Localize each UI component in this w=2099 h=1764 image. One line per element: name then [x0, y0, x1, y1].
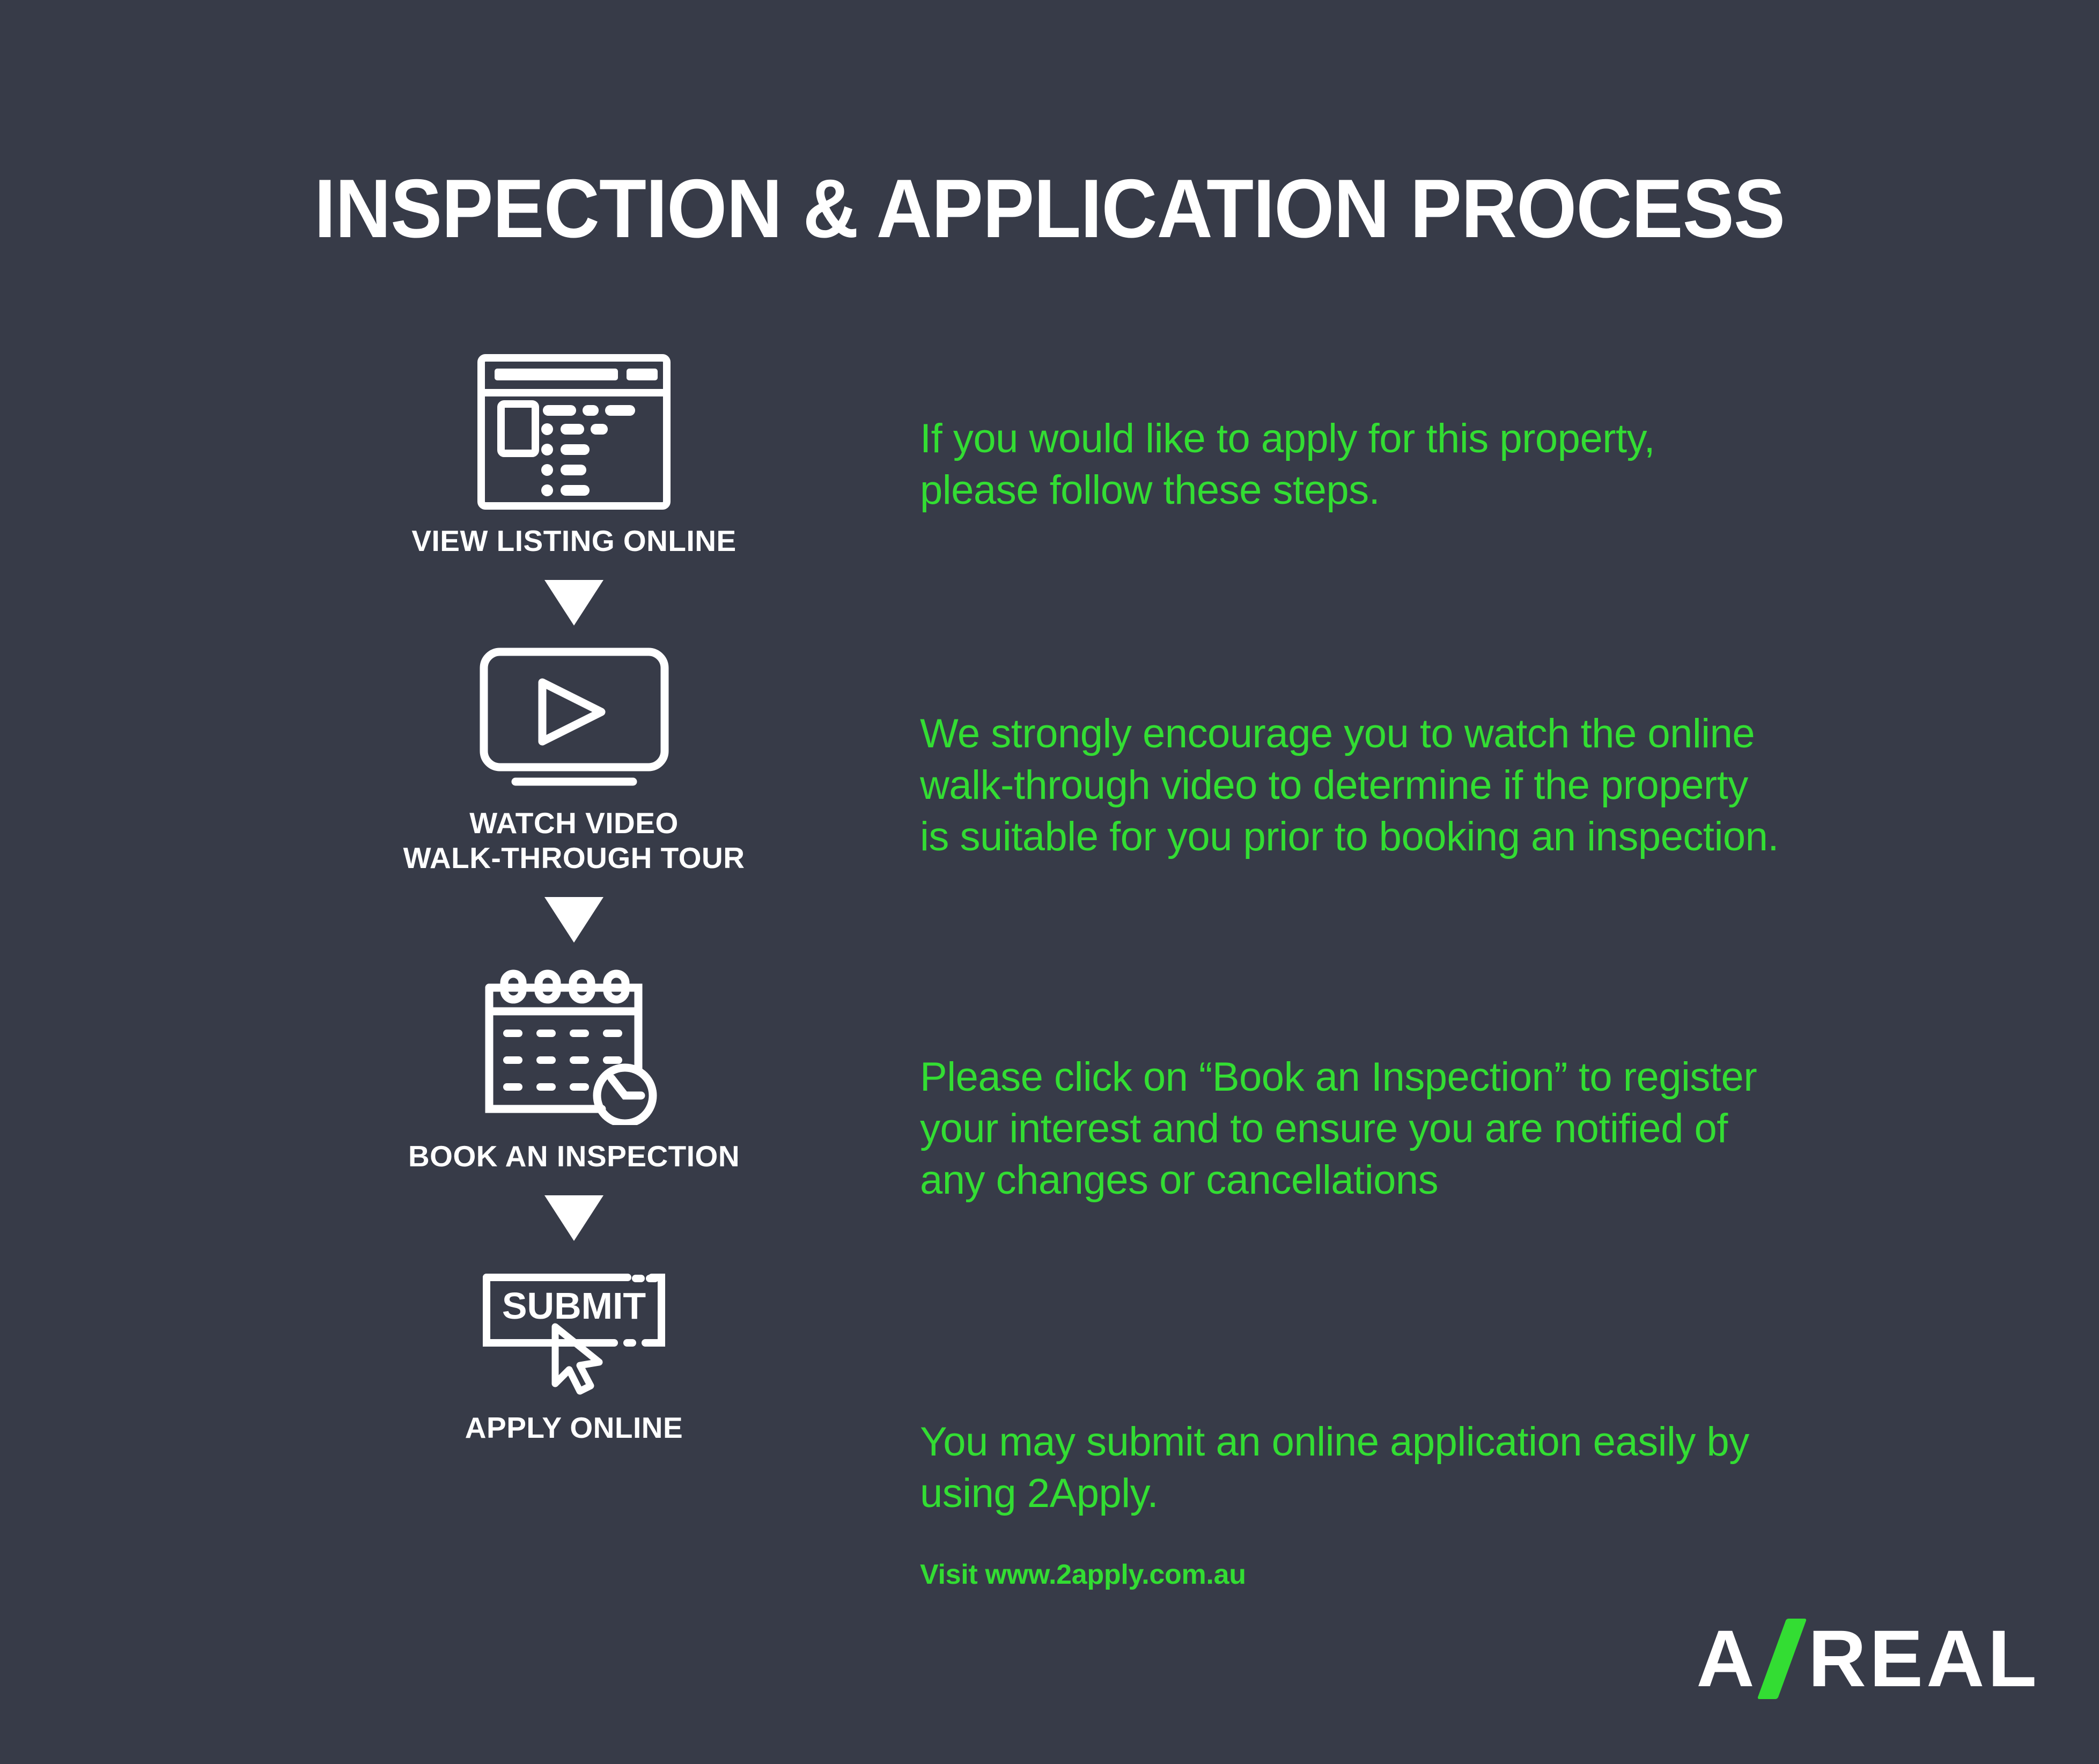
visit-url-link[interactable]: Visit www.2apply.com.au	[920, 1559, 1246, 1591]
note-watch-video: We strongly encourage you to watch the o…	[920, 708, 1779, 862]
flow-step-label: WATCH VIDEO WALK-THROUGH TOUR	[403, 806, 745, 876]
green-slash-icon	[1757, 1619, 1807, 1699]
submit-icon-text: SUBMIT	[502, 1285, 646, 1327]
listing-window-icon	[477, 354, 671, 510]
flow-step-watch-video: WATCH VIDEO WALK-THROUGH TOUR	[300, 647, 848, 876]
flow-step-label: VIEW LISTING ONLINE	[411, 524, 736, 558]
triangle-down-icon	[544, 897, 603, 943]
flow-step-label: APPLY ONLINE	[465, 1410, 683, 1445]
page-title: INSPECTION & APPLICATION PROCESS	[73, 161, 2026, 256]
process-flow: VIEW LISTING ONLINE WATCH VIDEO WALK-THR…	[300, 354, 848, 1445]
calendar-clock-icon	[477, 964, 671, 1125]
infographic-poster: INSPECTION & APPLICATION PROCESS	[0, 0, 2099, 1764]
triangle-down-icon	[544, 1195, 603, 1241]
video-play-monitor-icon	[479, 647, 669, 792]
note-book-inspection: Please click on “Book an Inspection” to …	[920, 1052, 1757, 1206]
note-apply-2apply: You may submit an online application eas…	[920, 1416, 1749, 1519]
submit-button-cursor-icon: SUBMIT	[475, 1262, 673, 1396]
logo-letter-a: A	[1696, 1612, 1757, 1705]
flow-step-view-listing: VIEW LISTING ONLINE	[300, 354, 848, 558]
flow-step-label: BOOK AN INSPECTION	[408, 1139, 740, 1174]
triangle-down-icon	[544, 580, 603, 626]
brand-logo: A REAL	[1696, 1612, 2040, 1705]
flow-step-book-inspection: BOOK AN INSPECTION	[300, 964, 848, 1174]
note-apply-steps: If you would like to apply for this prop…	[920, 413, 1655, 516]
logo-word-real: REAL	[1808, 1612, 2040, 1705]
flow-step-apply-online: SUBMIT APPLY ONLINE	[300, 1262, 848, 1445]
